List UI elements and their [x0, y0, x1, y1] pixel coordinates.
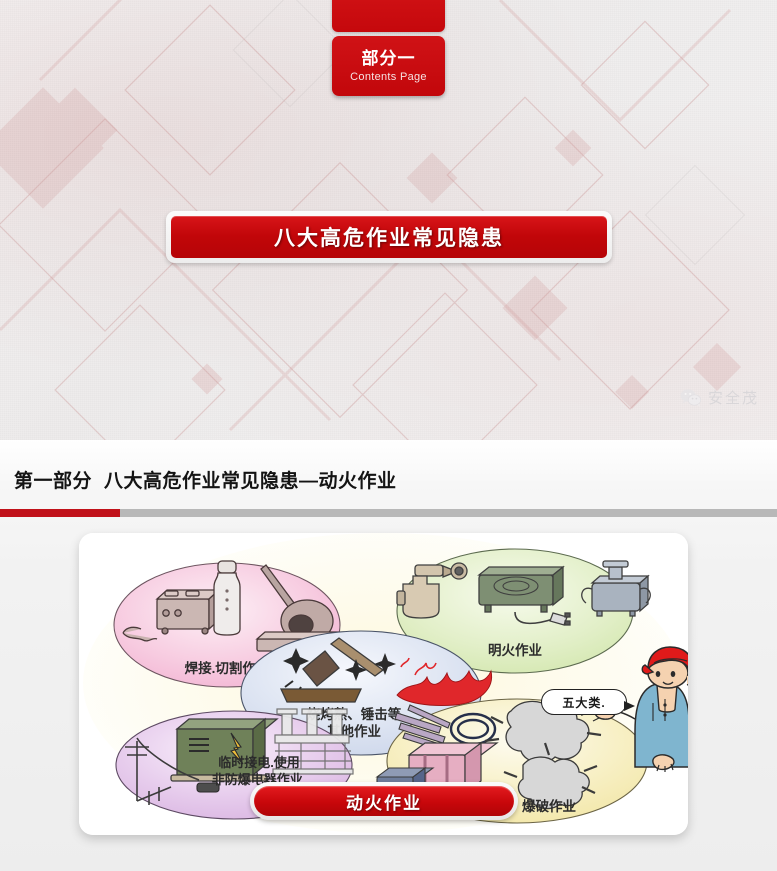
cover-title-banner: 八大高危作业常见隐患 [166, 211, 612, 263]
contents-tab[interactable]: 部分一 Contents Page [332, 36, 445, 96]
hot-work-pill-text: 动火作业 [346, 789, 422, 814]
label-blasting: 爆破作业 [522, 798, 576, 814]
label-open-flame: 明火作业 [488, 642, 542, 658]
diagram-card: 焊接.切割作业 [79, 533, 688, 835]
contents-tab-top-block [332, 0, 445, 32]
speech-bubble: 五大类. [541, 689, 627, 715]
speech-bubble-text: 五大类. [562, 694, 605, 711]
hot-work-pill-inner: 动火作业 [254, 786, 514, 816]
divider-gray-segment [120, 509, 777, 517]
slide-contents-cover: 部分一 Contents Page 八大高危作业常见隐患 安全茂 [0, 0, 777, 440]
header-divider [0, 509, 777, 517]
section-header: 第一部分八大高危作业常见隐患—动火作业 [14, 466, 397, 493]
hot-work-pill[interactable]: 动火作业 [250, 782, 518, 820]
contents-tab-cn-label: 部分一 [362, 49, 416, 69]
slide-hot-work: 第一部分八大高危作业常见隐患—动火作业 [0, 440, 777, 871]
contents-tab-en-label: Contents Page [350, 71, 427, 83]
cover-title-text: 八大高危作业常见隐患 [274, 222, 504, 252]
label-temporary-power-line1: 临时接电.使用 [218, 755, 300, 770]
divider-red-segment [0, 509, 120, 517]
presentation-page: 部分一 Contents Page 八大高危作业常见隐患 安全茂 [0, 0, 777, 871]
cover-title-banner-inner: 八大高危作业常见隐患 [171, 216, 607, 258]
section-title-text: 八大高危作业常见隐患—动火作业 [104, 471, 397, 492]
section-part-label: 第一部分 [14, 471, 92, 492]
